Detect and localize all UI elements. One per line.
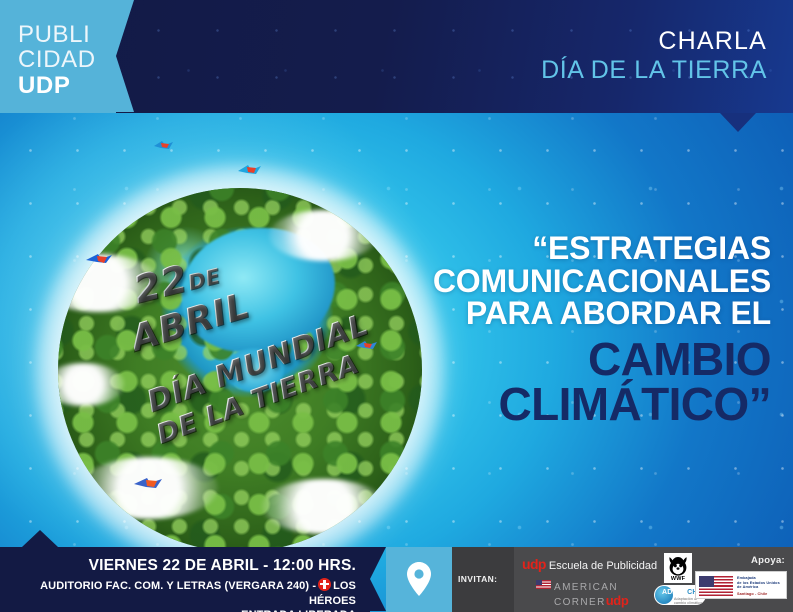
brand-label: PUBLI CIDAD UDP xyxy=(18,22,96,98)
udp-escuela-label: Escuela de Publicidad xyxy=(549,560,657,572)
event-title-block: CHARLA DÍA DE LA TIERRA xyxy=(541,27,767,85)
embassy-line-4: Santiago - Chile xyxy=(737,592,780,597)
us-flag-icon xyxy=(536,580,551,589)
event-datetime: VIERNES 22 DE ABRIL - 12:00 HRS. xyxy=(0,556,356,576)
globe-cloud xyxy=(262,479,386,534)
earth-day-talk-poster: 22DE ABRIL DÍA MUNDIAL DE LA TIERRA “EST… xyxy=(0,0,793,612)
brand-tag-chevron xyxy=(116,0,134,112)
metro-santiago-icon xyxy=(318,578,331,591)
headline-line-5: CLIMÁTICO” xyxy=(301,381,771,428)
footer-location-block xyxy=(386,547,452,612)
event-name-label: DÍA DE LA TIERRA xyxy=(541,56,767,85)
footer-logos-block: udpEscuela de Publicidad AMERICAN CORNER… xyxy=(514,547,793,612)
footer-bar: VIERNES 22 DE ABRIL - 12:00 HRS. AUDITOR… xyxy=(0,547,793,612)
headline-line-2: COMUNICACIONALES xyxy=(301,265,771,298)
wwf-label: WWF xyxy=(664,576,692,582)
header-bar: PUBLI CIDAD UDP CHARLA DÍA DE LA TIERRA xyxy=(0,0,793,113)
location-pin-icon xyxy=(407,562,431,601)
invitan-label: INVITAN: xyxy=(458,574,497,584)
american-corner-line-1: AMERICAN xyxy=(536,580,628,594)
globe-lagoon-small xyxy=(225,348,283,392)
headline-line-3: PARA ABORDAR EL xyxy=(301,297,771,330)
logo-wwf: WWF xyxy=(664,553,692,583)
apoya-label: Apoya: xyxy=(751,555,785,566)
headline-block: “ESTRATEGIAS COMUNICACIONALES PARA ABORD… xyxy=(301,232,771,428)
event-details: VIERNES 22 DE ABRIL - 12:00 HRS. AUDITOR… xyxy=(0,556,356,612)
logo-us-embassy: Embajada de los Estados Unidos de Améric… xyxy=(695,571,787,599)
udp-mark: udp xyxy=(522,556,546,572)
brand-line-1: PUBLI xyxy=(18,22,96,47)
footer-invitan-block: INVITAN: xyxy=(452,547,514,612)
us-flag-icon xyxy=(699,576,733,596)
event-type-label: CHARLA xyxy=(541,27,767,56)
headline-line-4: CAMBIO xyxy=(301,336,771,383)
footer-info-block: VIERNES 22 DE ABRIL - 12:00 HRS. AUDITOR… xyxy=(0,547,370,612)
embassy-line-3: de América xyxy=(737,585,780,590)
footer-notch-triangle xyxy=(22,530,58,547)
brand-line-3: UDP xyxy=(18,73,96,98)
us-embassy-text: Embajada de los Estados Unidos de Améric… xyxy=(737,576,780,597)
brand-line-2: CIDAD xyxy=(18,47,96,72)
headline-line-1: “ESTRATEGIAS xyxy=(301,232,771,265)
footer-info-chevron xyxy=(370,547,386,611)
logo-udp-escuela-publicidad: udpEscuela de Publicidad xyxy=(522,556,657,574)
event-venue: AUDITORIO FAC. COM. Y LETRAS (VERGARA 24… xyxy=(0,578,356,608)
event-admission: ENTRADA LIBERADA xyxy=(0,608,356,612)
american-corner-line-2: CORNERudp xyxy=(554,594,628,609)
logo-american-corner-udp: AMERICAN CORNERudp xyxy=(536,580,628,608)
header-notch-triangle xyxy=(720,113,756,132)
udp-mark: udp xyxy=(606,593,629,608)
